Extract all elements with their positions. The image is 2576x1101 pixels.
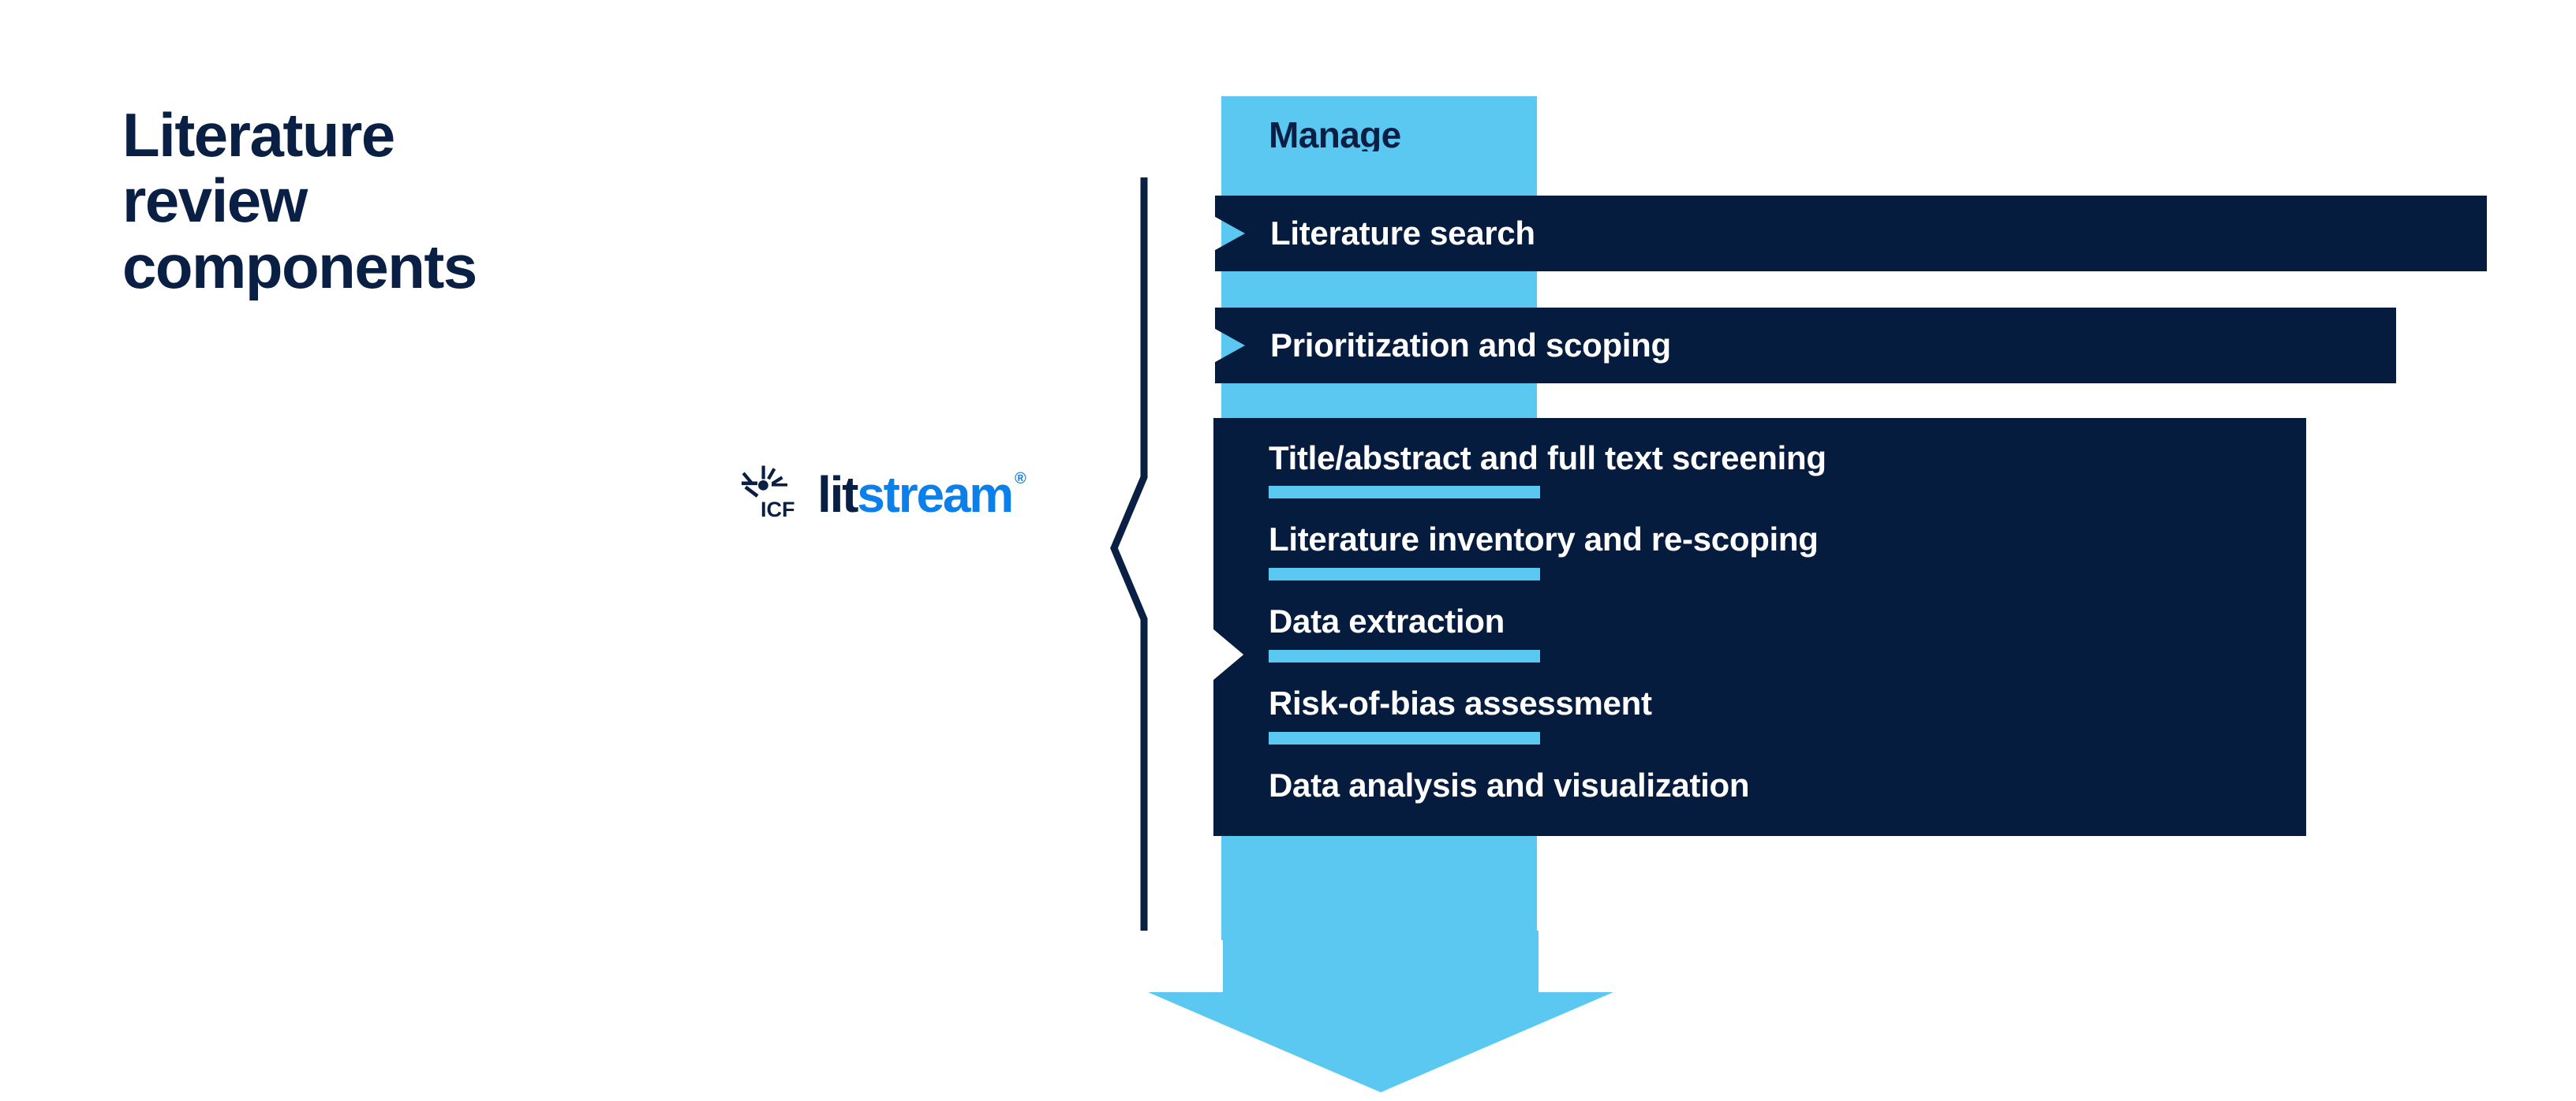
component-bar-label: Risk-of-bias assessment	[1269, 687, 1652, 720]
grouping-brace	[1105, 177, 1152, 931]
component-bar-prioritization-and-scoping[interactable]: Prioritization and scoping	[1215, 308, 2396, 383]
row-separator-stripe	[1269, 568, 1540, 580]
row-separator-stripe	[1269, 486, 1540, 498]
manage-phase-label: Manage	[1269, 117, 1401, 153]
group-chevron-notch-icon	[1207, 607, 1254, 702]
page-title-line-3: components	[122, 234, 675, 300]
icf-litstream-logo: ICF litstream®	[742, 461, 1024, 524]
registered-trademark-icon: ®	[1015, 470, 1026, 487]
band-gap-stripe	[1221, 151, 1537, 169]
wordmark-lit: lit	[817, 466, 857, 523]
litstream-wordmark: litstream®	[817, 469, 1024, 520]
process-flow-down-arrow	[1144, 931, 1625, 1098]
page-title-line-2: review	[122, 168, 675, 233]
component-bar-label: Literature inventory and re-scoping	[1269, 523, 1819, 556]
row-separator-stripe	[1269, 732, 1540, 745]
component-bar-label: Literature search	[1270, 217, 1535, 250]
component-bar-literature-search[interactable]: Literature search	[1215, 196, 2487, 271]
page-title-line-1: Literature	[122, 103, 675, 168]
svg-text:ICF: ICF	[761, 498, 795, 521]
wordmark-stream: stream	[857, 466, 1012, 523]
row-separator-stripe	[1269, 650, 1540, 662]
infographic-canvas: Literature review components ICF litstre…	[0, 0, 2576, 1101]
component-bar-label: Title/abstract and full text screening	[1269, 442, 1826, 475]
component-bar-label: Prioritization and scoping	[1270, 329, 1671, 362]
component-bar-label: Data extraction	[1269, 605, 1505, 638]
component-bar-label: Data analysis and visualization	[1269, 769, 1749, 802]
page-title: Literature review components	[122, 103, 675, 300]
icf-starburst-icon: ICF	[742, 465, 806, 521]
